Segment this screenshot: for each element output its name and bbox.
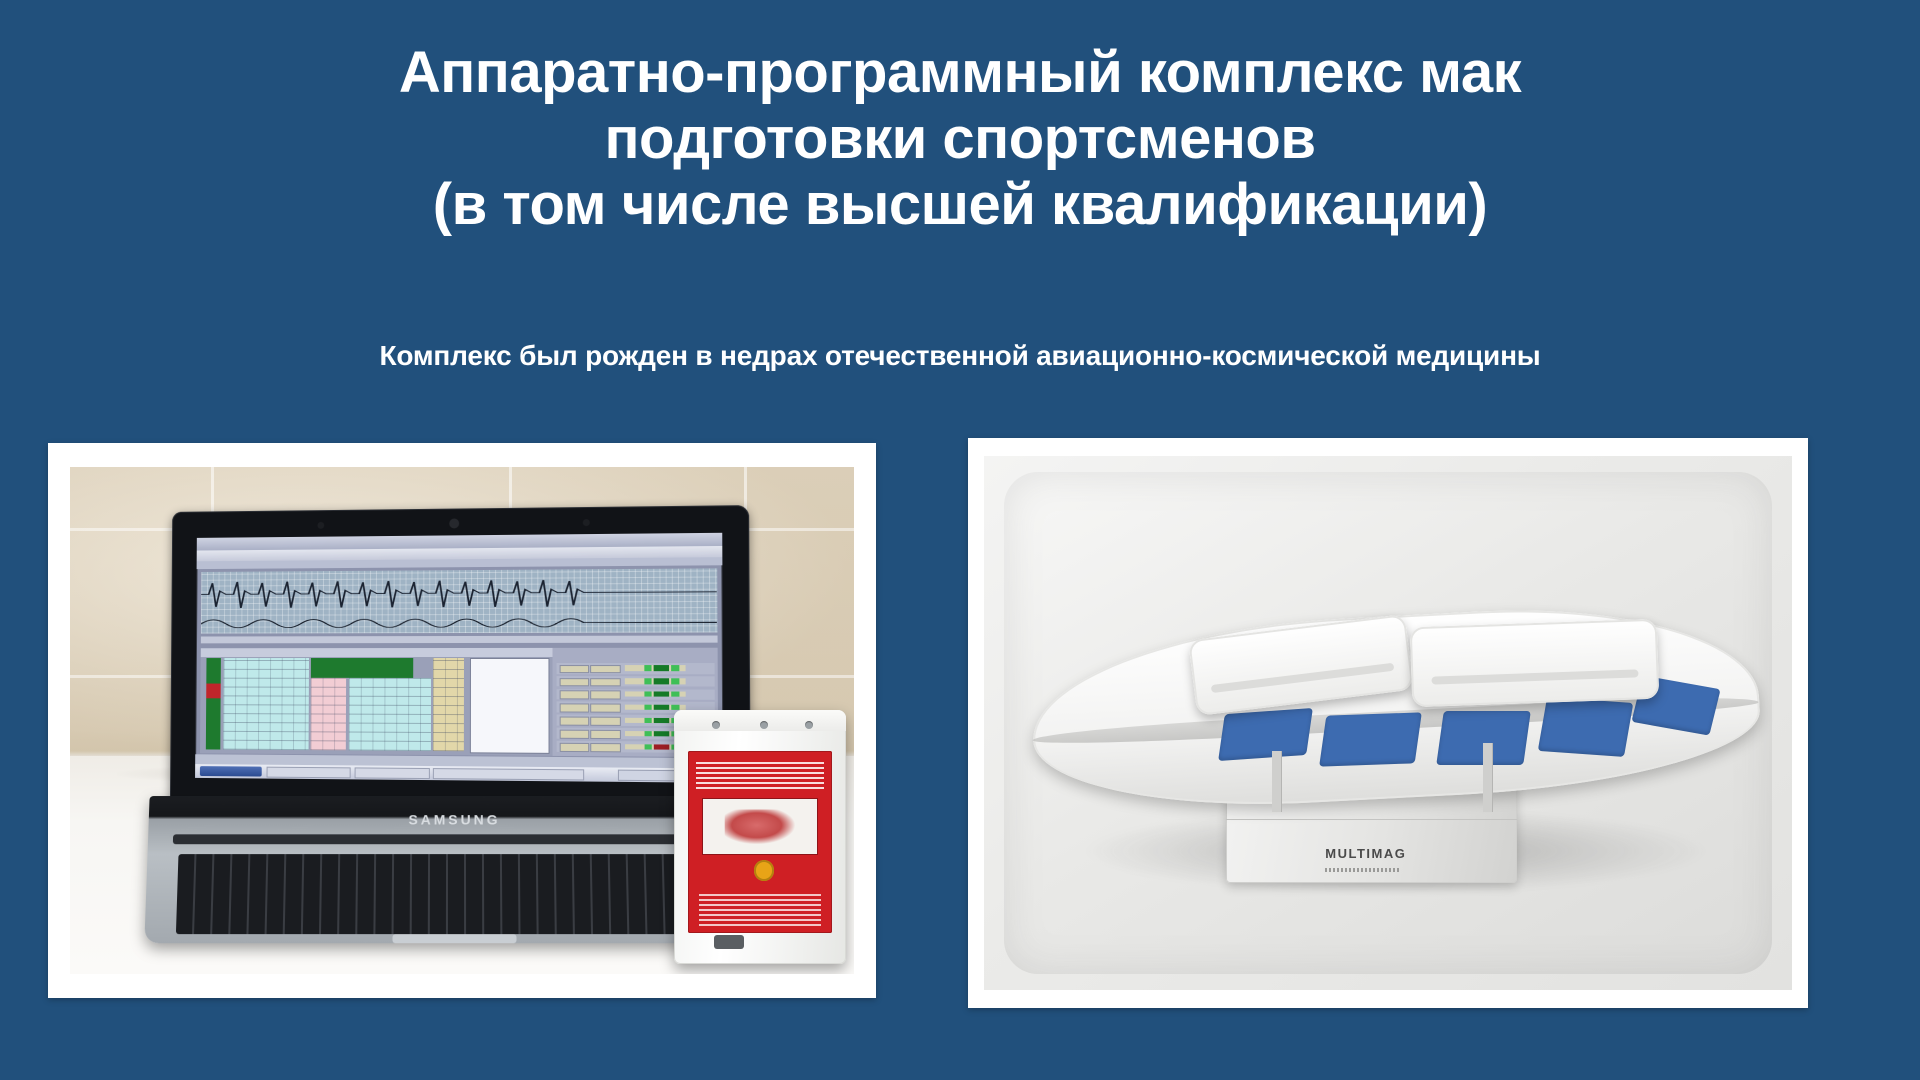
start-button-icon[interactable]: [200, 766, 261, 776]
slide-root: Аппаратно-программный комплекс мак подго…: [0, 0, 1920, 1080]
device-connector-icon: [712, 721, 720, 729]
label-diagram-image: [702, 798, 818, 855]
title-line-1: Аппаратно-программный комплекс мак: [120, 40, 1800, 106]
couch-support-leg: [1272, 751, 1282, 813]
title-line-2: подготовки спортсменов: [120, 106, 1800, 172]
status-column-green: [311, 658, 413, 677]
laptop-brand-label: SAMSUNG: [408, 812, 500, 828]
couch-pad: [1537, 697, 1633, 757]
label-body-text: [699, 893, 821, 926]
flap-groove: [1431, 669, 1639, 684]
pane-divider: [201, 635, 717, 643]
taskbar-item[interactable]: [267, 767, 352, 779]
table-column: [311, 677, 347, 750]
laptop-base: SAMSUNG: [144, 796, 764, 943]
measurement-row: [556, 675, 714, 686]
couch-upper-flap[interactable]: [1409, 619, 1659, 707]
measurement-row: [556, 688, 714, 699]
device-brand-underline: [1325, 868, 1401, 872]
lab-scene: SAMSUNG: [70, 467, 854, 974]
chart-blank-pane: [470, 658, 550, 753]
photo-right-image: MULTIMAG: [984, 456, 1792, 990]
webcam-icon: [449, 518, 459, 528]
title-line-3: (в том числе высшей квалификации): [120, 172, 1800, 238]
couch-pad: [1218, 708, 1313, 761]
device-power-button[interactable]: [754, 860, 774, 880]
table-column: [349, 677, 431, 750]
bezel-latch-icon: [317, 521, 324, 528]
heart-diagram-icon: [725, 809, 796, 844]
laptop: SAMSUNG: [164, 508, 744, 944]
status-column-green: [205, 658, 221, 749]
couch-pad: [1319, 713, 1421, 767]
cabinet-seam: [1226, 819, 1517, 820]
flap-groove: [1212, 663, 1395, 693]
device-brand-label: MULTIMAG: [1325, 846, 1406, 861]
subtitle: Комплекс был рожден в недрах отечественн…: [0, 340, 1920, 372]
laptop-hinge: [172, 834, 736, 844]
device-cable-connector: [714, 935, 744, 949]
medical-device: [674, 710, 846, 964]
label-heading-text: [696, 760, 824, 789]
device-red-label: [688, 751, 833, 934]
device-connector-icon: [760, 721, 768, 729]
magnetotherapy-scene: MULTIMAG: [984, 456, 1792, 990]
photo-frame-right: MULTIMAG: [968, 438, 1808, 1008]
bezel-latch-icon: [583, 519, 590, 526]
laptop-screen: [195, 533, 723, 782]
laptop-lid: [170, 505, 751, 817]
measurement-row: [556, 662, 714, 673]
title-block: Аппаратно-программный комплекс мак подго…: [0, 40, 1920, 238]
photo-left-image: SAMSUNG: [70, 467, 854, 974]
device-top-panel: [674, 710, 846, 730]
table-column: [433, 658, 464, 751]
taskbar-item[interactable]: [433, 768, 584, 781]
data-table-area: [200, 647, 717, 757]
device-connector-icon: [805, 721, 813, 729]
status-column-red: [206, 683, 221, 698]
ecg-waveform-pane: [201, 568, 717, 634]
laptop-touchpad[interactable]: [392, 935, 516, 944]
table-column: [223, 658, 309, 749]
photo-frame-left: SAMSUNG: [48, 443, 876, 998]
ecg-trace-icon: [201, 568, 717, 634]
laptop-keyboard[interactable]: [175, 855, 733, 935]
therapy-couch: [1032, 616, 1759, 798]
couch-support-leg: [1483, 743, 1493, 812]
taskbar-item[interactable]: [354, 767, 429, 779]
